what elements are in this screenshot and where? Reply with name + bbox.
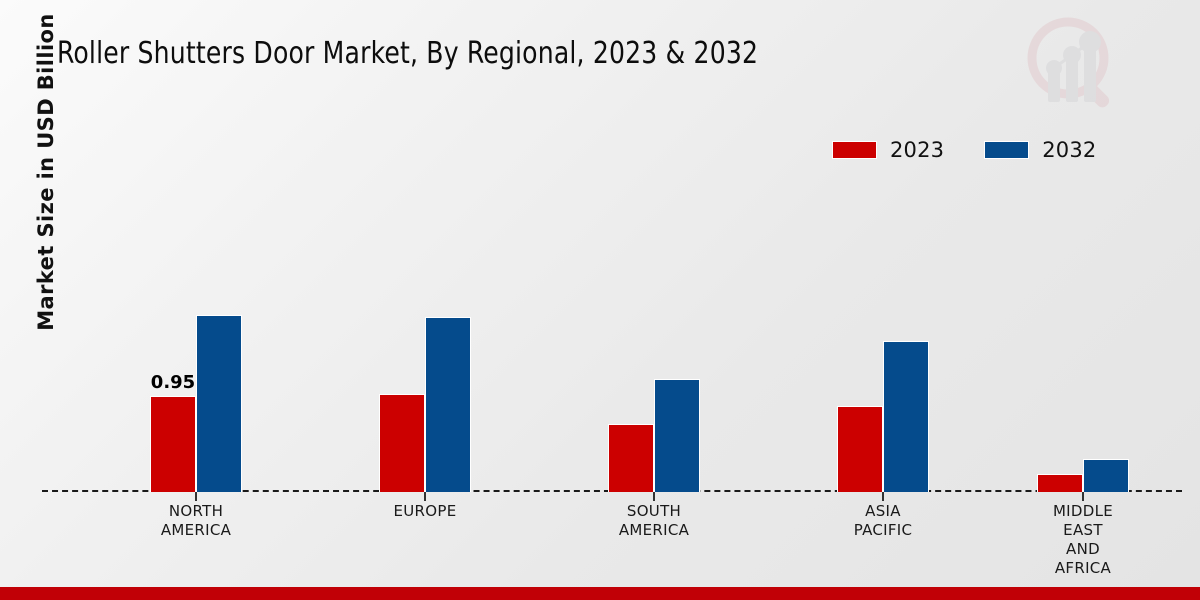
legend-item-2023[interactable]: 2023 [832,138,944,162]
bar-group-europe: EUROPE [331,200,519,492]
x-tick-south-america [653,492,655,501]
legend-label-2023: 2023 [890,138,944,162]
x-tick-middle-east-and-africa [1082,492,1084,501]
bar-2023-asia-pacific[interactable] [837,406,883,492]
bar-group-north-america: 0.95 NORTH AMERICA [102,200,290,492]
bar-group-asia-pacific: ASIA PACIFIC [789,200,977,492]
bar-group-middle-east-and-africa: MIDDLE EAST AND AFRICA [989,200,1177,492]
x-tick-europe [424,492,426,501]
chart-legend: 2023 2032 [832,138,1097,162]
bar-2023-north-america[interactable]: 0.95 [150,396,196,492]
footer-accent-bar [0,587,1200,600]
bar-group-south-america: SOUTH AMERICA [560,200,748,492]
magnifier-bar-chart-logo-icon [1022,14,1122,112]
x-tick-asia-pacific [882,492,884,501]
x-label-middle-east-and-africa: MIDDLE EAST AND AFRICA [1053,502,1113,578]
legend-item-2032[interactable]: 2032 [984,138,1096,162]
bar-2023-europe[interactable] [379,394,425,492]
bar-2032-north-america[interactable] [196,315,242,492]
x-label-north-america: NORTH AMERICA [161,502,231,540]
page-title: Roller Shutters Door Market, By Regional… [57,36,758,71]
plot-area: 0.95 NORTH AMERICA EUROPE SOUTH AMERICA [42,200,1182,492]
x-tick-north-america [195,492,197,501]
bar-2023-middle-east-and-africa[interactable] [1037,474,1083,492]
bar-2032-middle-east-and-africa[interactable] [1083,459,1129,492]
x-label-asia-pacific: ASIA PACIFIC [854,502,913,540]
legend-swatch-2023 [832,141,877,159]
bar-2032-south-america[interactable] [654,379,700,492]
bar-2032-europe[interactable] [425,317,471,492]
bar-2032-asia-pacific[interactable] [883,341,929,492]
x-label-europe: EUROPE [393,502,456,521]
chart-canvas: Roller Shutters Door Market, By Regional… [0,0,1200,600]
legend-label-2032: 2032 [1042,138,1096,162]
bar-2023-south-america[interactable] [608,424,654,492]
legend-swatch-2032 [984,141,1029,159]
bar-value-label-north-america-2023: 0.95 [151,372,195,393]
x-label-south-america: SOUTH AMERICA [619,502,689,540]
